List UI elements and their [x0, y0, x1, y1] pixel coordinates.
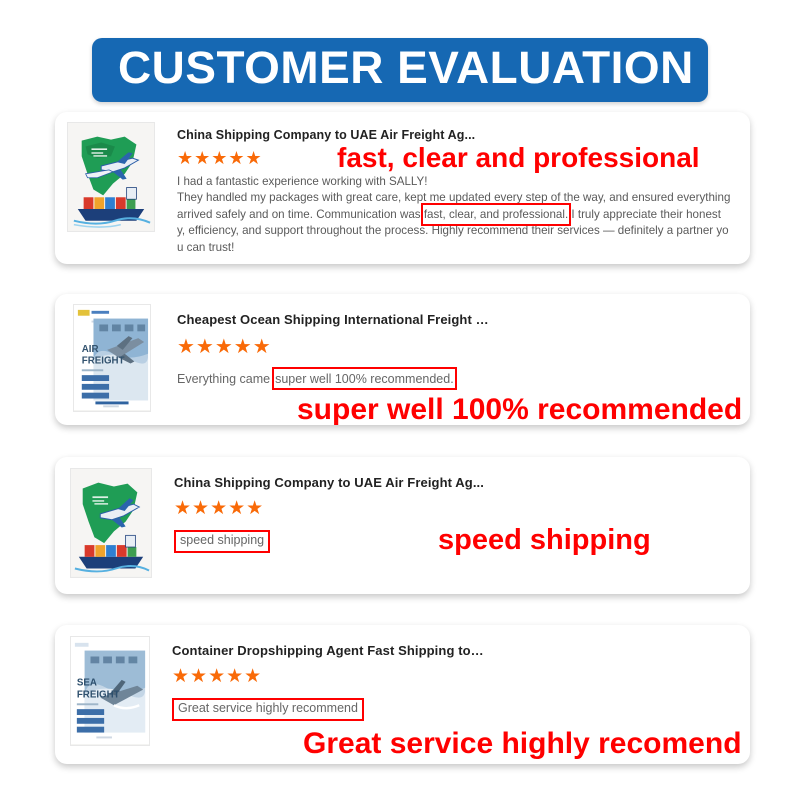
annotation-super-well-recommended: super well 100% recommended	[297, 393, 742, 427]
product-title[interactable]: China Shipping Company to UAE Air Freigh…	[177, 128, 750, 142]
review-card[interactable]: China Shipping Company to UAE Air Freigh…	[55, 112, 750, 264]
review-line: I had a fantastic experience working wit…	[177, 174, 743, 190]
highlight-box-super-well-recommended: super well 100% recommended.	[275, 371, 454, 387]
star-rating: ★★★★★	[177, 149, 263, 167]
sea-freight-banner-thumbnail[interactable]: SEA FREIGHT	[70, 636, 150, 746]
header-banner: CUSTOMER EVALUATION	[92, 38, 709, 102]
review-line-prefix: Everything came	[177, 372, 270, 386]
air-freight-banner-illustration-icon: AIR FREIGHT	[74, 305, 150, 410]
review-line: u can trust!	[177, 240, 743, 256]
thumbnail-column: AIR FREIGHT	[55, 294, 151, 412]
page-header: CUSTOMER EVALUATION	[0, 38, 800, 102]
review-line-with-highlight: arrived safely and on time. Communicatio…	[177, 207, 743, 223]
freight-illustration-icon	[71, 469, 151, 576]
product-title[interactable]: China Shipping Company to UAE Air Freigh…	[174, 475, 750, 490]
star-rating: ★★★★★	[177, 337, 272, 357]
page-title: CUSTOMER EVALUATION	[118, 45, 694, 91]
review-body-column: Cheapest Ocean Shipping International Fr…	[151, 294, 750, 387]
highlight-box-speed-shipping: speed shipping	[174, 530, 270, 553]
saudi-arabia-map-air-sea-freight-thumbnail[interactable]	[67, 122, 155, 232]
thumbnail-column	[55, 457, 152, 578]
svg-text:AIR: AIR	[82, 344, 99, 355]
review-text: I had a fantastic experience working wit…	[177, 174, 743, 256]
customer-evaluation-page: CUSTOMER EVALUATION	[0, 0, 800, 800]
star-rating: ★★★★★	[174, 499, 264, 518]
review-body-column: Container Dropshipping Agent Fast Shippi…	[150, 625, 750, 721]
review-line-prefix: arrived safely and on time. Communicatio…	[177, 208, 424, 221]
svg-text:FREIGHT: FREIGHT	[77, 689, 120, 700]
product-title[interactable]: Cheapest Ocean Shipping International Fr…	[177, 312, 750, 327]
sea-freight-banner-illustration-icon: SEA FREIGHT	[71, 637, 149, 744]
review-line-suffix: I truly appreciate their honest	[568, 208, 721, 221]
highlight-box-great-service: Great service highly recommend	[172, 698, 364, 721]
review-text: Everything camesuper well 100% recommend…	[177, 371, 750, 387]
saudi-arabia-map-air-sea-freight-thumbnail[interactable]	[70, 468, 152, 578]
review-line: They handled my packages with great care…	[177, 190, 743, 206]
air-freight-banner-thumbnail[interactable]: AIR FREIGHT	[73, 304, 151, 412]
annotation-speed-shipping: speed shipping	[438, 524, 651, 557]
star-rating: ★★★★★	[172, 667, 262, 686]
review-body-column: China Shipping Company to UAE Air Freigh…	[155, 112, 750, 256]
review-line: y, efficiency, and support throughout th…	[177, 223, 743, 239]
svg-text:FREIGHT: FREIGHT	[82, 355, 125, 366]
thumbnail-column	[55, 112, 155, 232]
svg-text:SEA: SEA	[77, 678, 97, 689]
review-text: Great service highly recommend	[172, 698, 750, 721]
annotation-fast-clear-professional: fast, clear and professional	[337, 142, 700, 174]
annotation-great-service-recomend: Great service highly recomend	[303, 727, 742, 761]
product-title[interactable]: Container Dropshipping Agent Fast Shippi…	[172, 643, 750, 658]
freight-illustration-icon	[68, 123, 154, 231]
highlight-box-fast-clear-professional: fast, clear, and professional.	[424, 207, 568, 223]
thumbnail-column: SEA FREIGHT	[55, 625, 150, 746]
